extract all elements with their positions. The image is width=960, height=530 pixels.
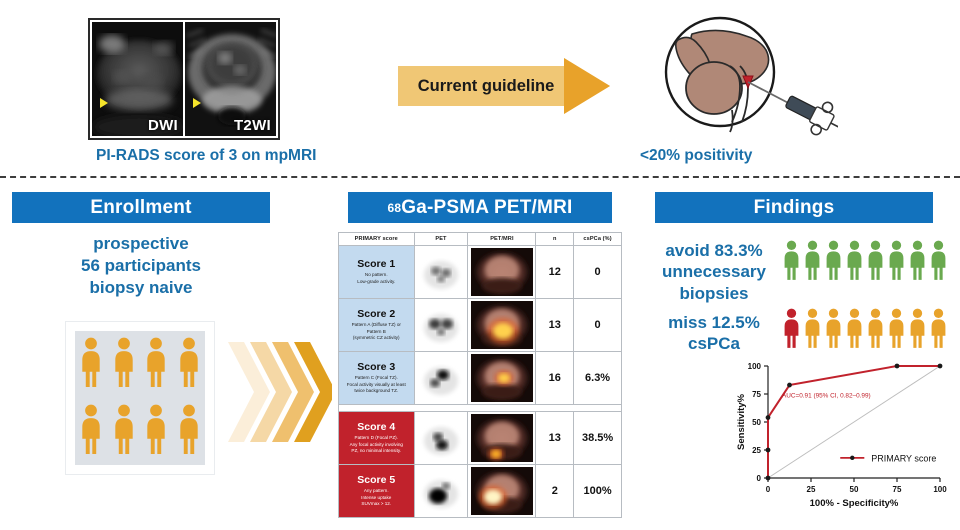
person-orange-icon [866, 308, 885, 353]
person-green-icon [908, 240, 927, 285]
enrollment-line-1: prospective [12, 233, 270, 255]
roc-point [766, 415, 771, 420]
roc-point [895, 364, 900, 369]
person-green-icon [845, 240, 864, 285]
cell-cspca: 100% [574, 465, 622, 518]
participant-icon [79, 404, 103, 459]
col-header-primary-score: PRIMARY score [339, 233, 415, 246]
finding-1-line-1: avoid 83.3% [648, 240, 780, 261]
person-green-icon [782, 240, 801, 285]
findings-title: Findings [754, 197, 835, 219]
cell-n: 13 [536, 412, 574, 465]
roc-auc-annotation: AUC=0.91 (95% CI, 0.82–0.99) [782, 392, 871, 399]
cell-petmri-image [468, 352, 536, 405]
roc-ytick: 50 [752, 418, 761, 427]
table-row: Score 3Pattern C (Focal TZ).Focal activi… [339, 352, 622, 405]
section-divider [0, 176, 960, 178]
score-label: Score 5 [339, 474, 414, 486]
person-orange-icon [929, 308, 948, 353]
person-icon [824, 308, 843, 348]
score-desc-line: Low-grade activity. [339, 279, 414, 286]
t2wi-image: T2WI [185, 22, 276, 136]
col-header-pet: PET [414, 233, 468, 246]
roc-point [787, 383, 792, 388]
roc-ytick: 25 [752, 446, 761, 455]
person-icon [79, 404, 103, 454]
person-red-icon [782, 308, 801, 353]
table-row: Score 2Pattern A (Diffuse TZ) orPattern … [339, 299, 622, 352]
person-icon [866, 308, 885, 348]
petmri-title: Ga-PSMA PET/MRI [401, 197, 572, 219]
person-green-icon [929, 240, 948, 285]
participant-icon [79, 337, 103, 392]
person-icon [112, 404, 136, 454]
col-header-cspca: csPCa (%) [574, 233, 622, 246]
person-icon [144, 404, 168, 454]
section-header-enrollment: Enrollment [12, 192, 270, 223]
person-green-icon [887, 240, 906, 285]
cell-pet-image [414, 465, 468, 518]
roc-xtick: 100 [933, 485, 947, 494]
score-description: No pattern.Low-grade activity. [339, 272, 414, 286]
cell-primary-score: Score 1No pattern.Low-grade activity. [339, 246, 415, 299]
person-orange-icon [887, 308, 906, 353]
enrollment-line-3: biopsy naive [12, 277, 270, 299]
score-desc-line: Pattern D (Focal PZ). [339, 435, 414, 442]
roc-legend-label: PRIMARY score [871, 453, 936, 463]
current-guideline-label: Current guideline [398, 58, 574, 114]
cell-n: 13 [536, 299, 574, 352]
prostate-biopsy-illustration [648, 14, 838, 144]
roc-point [766, 448, 771, 453]
cell-petmri-image [468, 412, 536, 465]
lesion-marker-arrow-t2wi [193, 98, 201, 108]
score-desc-line: twice background TZ. [339, 388, 414, 395]
current-guideline-arrow: Current guideline [398, 58, 610, 114]
person-green-icon [824, 240, 843, 285]
person-orange-icon [824, 308, 843, 353]
score-description: Pattern D (Focal PZ).Any focal activity … [339, 435, 414, 456]
roc-ytick: 100 [748, 362, 762, 371]
person-icon [177, 337, 201, 387]
cell-petmri-image [468, 465, 536, 518]
score-desc-line: Pattern A (Diffuse TZ) or [339, 322, 414, 329]
person-orange-icon [845, 308, 864, 353]
participant-icon [112, 404, 136, 459]
table-header: PRIMARY score PET PET/MRI n csPCa (%) [339, 233, 622, 246]
enrollment-description: prospective 56 participants biopsy naive [12, 233, 270, 298]
roc-ylabel: Sensitivity% [736, 393, 747, 450]
person-icon [782, 308, 801, 348]
roc-ytick: 0 [757, 474, 762, 483]
roc-curve-chart: 02550751000255075100AUC=0.91 (95% CI, 0.… [716, 352, 952, 520]
finding-1-line-2: unnecessary [648, 261, 780, 282]
process-chevron-arrows [228, 338, 332, 446]
mpmri-caption: PI-RADS score of 3 on mpMRI [96, 147, 316, 165]
cell-pet-image [414, 412, 468, 465]
graphical-abstract: DWI [0, 0, 960, 530]
person-icon [908, 308, 927, 348]
people-row-avoided [782, 240, 948, 285]
score-desc-line: No pattern. [339, 272, 414, 279]
lesion-marker-arrow-dwi [100, 98, 108, 108]
person-icon [866, 240, 885, 280]
person-icon [845, 308, 864, 348]
roc-xlabel: 100% - Specificity% [810, 498, 899, 509]
score-desc-line: Pattern C (Focal TZ). [339, 375, 414, 382]
cell-petmri-image [468, 246, 536, 299]
cell-primary-score: Score 4Pattern D (Focal PZ).Any focal ac… [339, 412, 415, 465]
roc-xtick: 25 [807, 485, 816, 494]
person-icon [845, 240, 864, 280]
person-icon [929, 240, 948, 280]
score-desc-line: Any focal activity involving [339, 442, 414, 449]
person-icon [803, 240, 822, 280]
dwi-image: DWI [92, 22, 183, 136]
people-row-missed [782, 308, 948, 353]
person-orange-icon [803, 308, 822, 353]
score-desc-line: Any pattern. [339, 488, 414, 495]
cell-pet-image [414, 246, 468, 299]
person-icon [803, 308, 822, 348]
participant-icon [177, 337, 201, 392]
person-icon [908, 240, 927, 280]
person-icon [177, 404, 201, 454]
roc-point [938, 364, 943, 369]
section-header-findings: Findings [655, 192, 933, 223]
roc-xtick: 0 [766, 485, 771, 494]
score-label: Score 4 [339, 421, 414, 433]
score-desc-line: Intense uptake [339, 495, 414, 502]
cell-cspca: 0 [574, 246, 622, 299]
participant-icon [144, 337, 168, 392]
person-icon [824, 240, 843, 280]
cell-n: 12 [536, 246, 574, 299]
score-desc-line: SUVmax > 12. [339, 501, 414, 508]
person-icon [887, 240, 906, 280]
petmri-title-superscript: 68 [388, 201, 402, 215]
mpmri-image-frame: DWI [88, 18, 280, 140]
table-row: Score 5Any pattern.Intense uptakeSUVmax … [339, 465, 622, 518]
cell-cspca: 38.5% [574, 412, 622, 465]
enrollment-participant-grid [66, 322, 214, 474]
table-header-row: PRIMARY score PET PET/MRI n csPCa (%) [339, 233, 622, 246]
finding-1-line-3: biopsies [648, 283, 780, 304]
participant-icon [144, 404, 168, 459]
person-icon [79, 337, 103, 387]
finding-avoid-biopsies: avoid 83.3% unnecessary biopsies [648, 240, 780, 304]
roc-xtick: 50 [850, 485, 859, 494]
cell-n: 2 [536, 465, 574, 518]
score-description: Any pattern.Intense uptakeSUVmax > 12. [339, 488, 414, 509]
cell-pet-image [414, 299, 468, 352]
cell-cspca: 6.3% [574, 352, 622, 405]
participant-icon [112, 337, 136, 392]
roc-xtick: 75 [893, 485, 902, 494]
table-row: Score 4Pattern D (Focal PZ).Any focal ac… [339, 412, 622, 465]
person-green-icon [866, 240, 885, 285]
person-icon [144, 337, 168, 387]
person-icon [887, 308, 906, 348]
section-header-petmri: 68Ga-PSMA PET/MRI [348, 192, 612, 223]
table-row-separator [339, 405, 622, 412]
cell-primary-score: Score 2Pattern A (Diffuse TZ) orPattern … [339, 299, 415, 352]
participant-icon [177, 404, 201, 459]
cell-cspca: 0 [574, 299, 622, 352]
score-desc-line: Pattern B [339, 329, 414, 336]
finding-2-line-1: miss 12.5% [648, 312, 780, 333]
person-orange-icon [908, 308, 927, 353]
col-header-petmri: PET/MRI [468, 233, 536, 246]
person-icon [112, 337, 136, 387]
cell-primary-score: Score 5Any pattern.Intense uptakeSUVmax … [339, 465, 415, 518]
roc-ytick: 75 [752, 390, 761, 399]
score-label: Score 2 [339, 308, 414, 320]
cell-primary-score: Score 3Pattern C (Focal TZ).Focal activi… [339, 352, 415, 405]
score-label: Score 3 [339, 361, 414, 373]
positivity-caption: <20% positivity [640, 147, 752, 165]
enrollment-title: Enrollment [90, 197, 191, 219]
score-desc-line: Focal activity visually at least [339, 382, 414, 389]
t2wi-label: T2WI [234, 117, 271, 134]
primary-score-table: PRIMARY score PET PET/MRI n csPCa (%) Sc… [338, 232, 622, 518]
roc-point [766, 476, 771, 481]
person-icon [782, 240, 801, 280]
score-desc-line: (symmetric CZ activity) [339, 335, 414, 342]
score-desc-line: PZ, no minimal intensity. [339, 448, 414, 455]
table-row: Score 1No pattern.Low-grade activity.120 [339, 246, 622, 299]
score-description: Pattern C (Focal TZ).Focal activity visu… [339, 375, 414, 396]
cell-petmri-image [468, 299, 536, 352]
cell-pet-image [414, 352, 468, 405]
table-body: Score 1No pattern.Low-grade activity.120… [339, 246, 622, 518]
enrollment-line-2: 56 participants [12, 255, 270, 277]
person-green-icon [803, 240, 822, 285]
score-label: Score 1 [339, 258, 414, 270]
person-icon [929, 308, 948, 348]
col-header-n: n [536, 233, 574, 246]
cell-n: 16 [536, 352, 574, 405]
score-description: Pattern A (Diffuse TZ) orPattern B(symme… [339, 322, 414, 343]
finding-missed-cspca: miss 12.5% csPCa [648, 312, 780, 355]
dwi-label: DWI [148, 117, 178, 134]
